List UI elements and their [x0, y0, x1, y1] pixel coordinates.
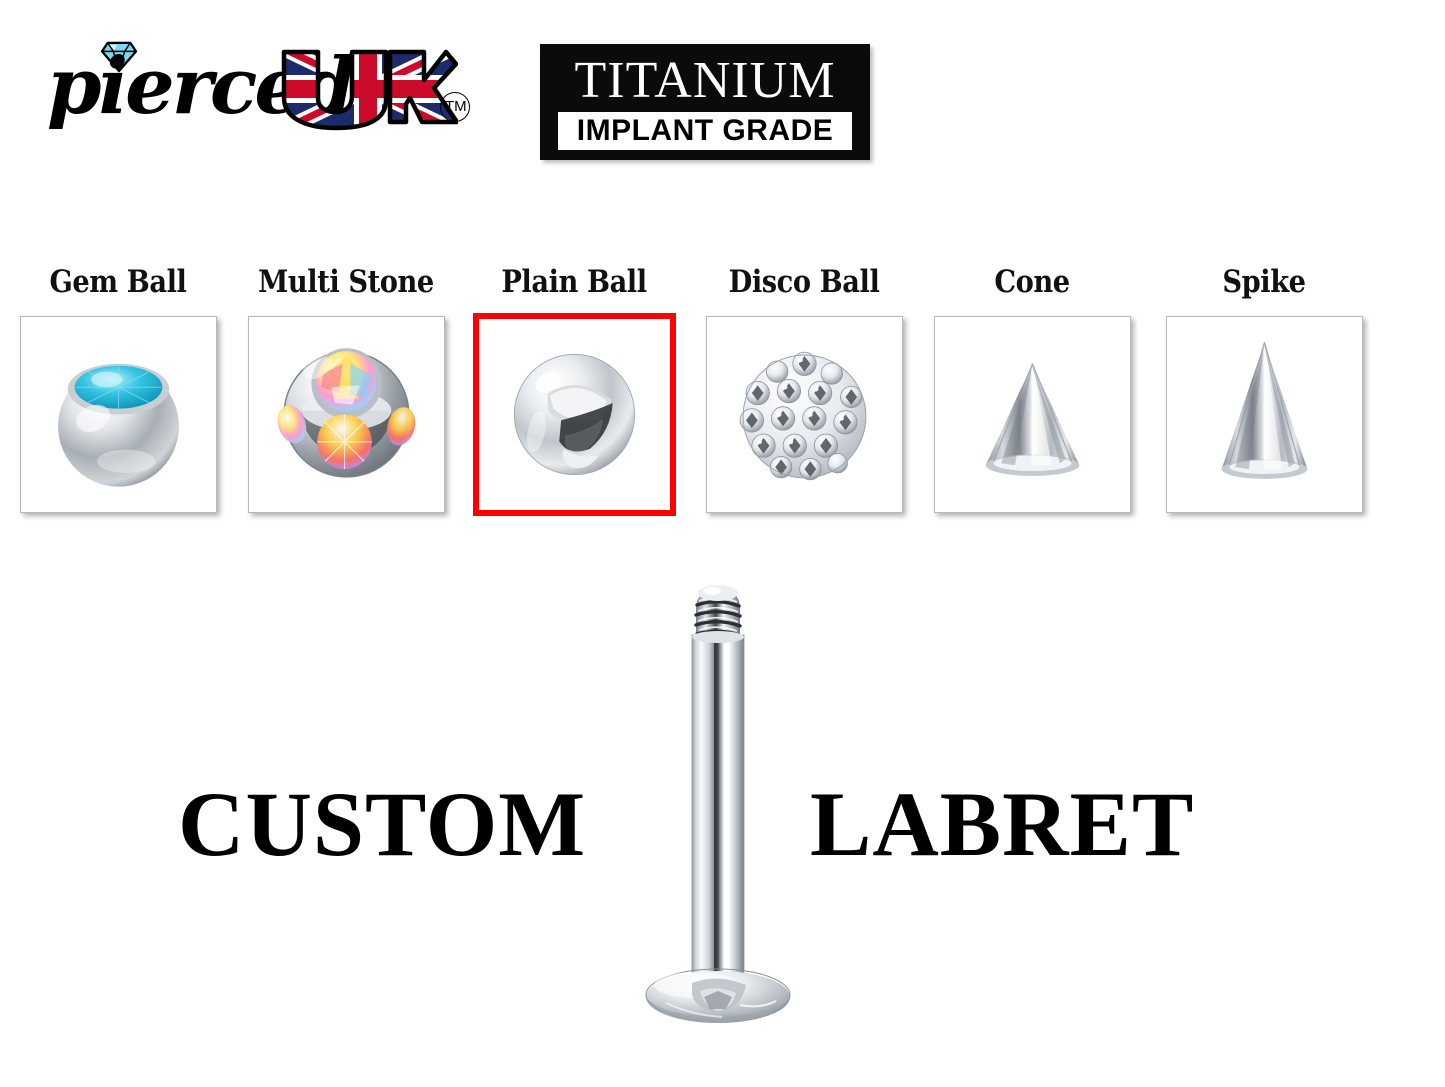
product-image-canvas: pierced: [0, 0, 1445, 1087]
material-badge-title: TITANIUM: [540, 52, 870, 110]
option-label: Spike: [1164, 262, 1365, 308]
gem-ball-icon: [21, 317, 216, 512]
plain-ball-icon: [479, 319, 670, 510]
option-thumbnail-box[interactable]: [934, 316, 1131, 513]
option-gem-ball[interactable]: Gem Ball: [4, 262, 232, 537]
option-label: Plain Ball: [474, 262, 675, 308]
option-thumbnail-box[interactable]: [248, 316, 445, 513]
union-jack-icon: [278, 46, 458, 132]
option-thumbnail-box-selected[interactable]: [473, 313, 676, 516]
attachment-options-row: Gem Ball: [0, 262, 1445, 542]
option-plain-ball[interactable]: Plain Ball: [460, 262, 688, 537]
product-title-right: LABRET: [810, 778, 1194, 870]
spike-icon: [1167, 317, 1362, 512]
material-badge-subtitle-bar: IMPLANT GRADE: [558, 112, 852, 150]
option-disco-ball[interactable]: Disco Ball: [690, 262, 918, 537]
material-badge: TITANIUM IMPLANT GRADE: [540, 44, 870, 160]
option-cone[interactable]: Cone: [918, 262, 1146, 537]
option-label: Disco Ball: [704, 262, 905, 308]
option-thumbnail-box[interactable]: [20, 316, 217, 513]
option-spike[interactable]: Spike: [1150, 262, 1378, 537]
option-label: Cone: [932, 262, 1133, 308]
option-multi-stone[interactable]: Multi Stone: [232, 262, 460, 537]
option-thumbnail-box[interactable]: [1166, 316, 1363, 513]
trademark-label: TM: [445, 98, 467, 115]
option-thumbnail-box[interactable]: [706, 316, 903, 513]
disco-ball-icon: [707, 317, 902, 512]
option-label: Gem Ball: [18, 262, 219, 308]
product-title-left: CUSTOM: [178, 778, 586, 870]
option-label: Multi Stone: [246, 262, 447, 308]
brand-logo: pierced: [25, 40, 475, 145]
material-badge-subtitle: IMPLANT GRADE: [558, 112, 852, 150]
multi-stone-icon: [249, 317, 444, 512]
cone-icon: [935, 317, 1130, 512]
